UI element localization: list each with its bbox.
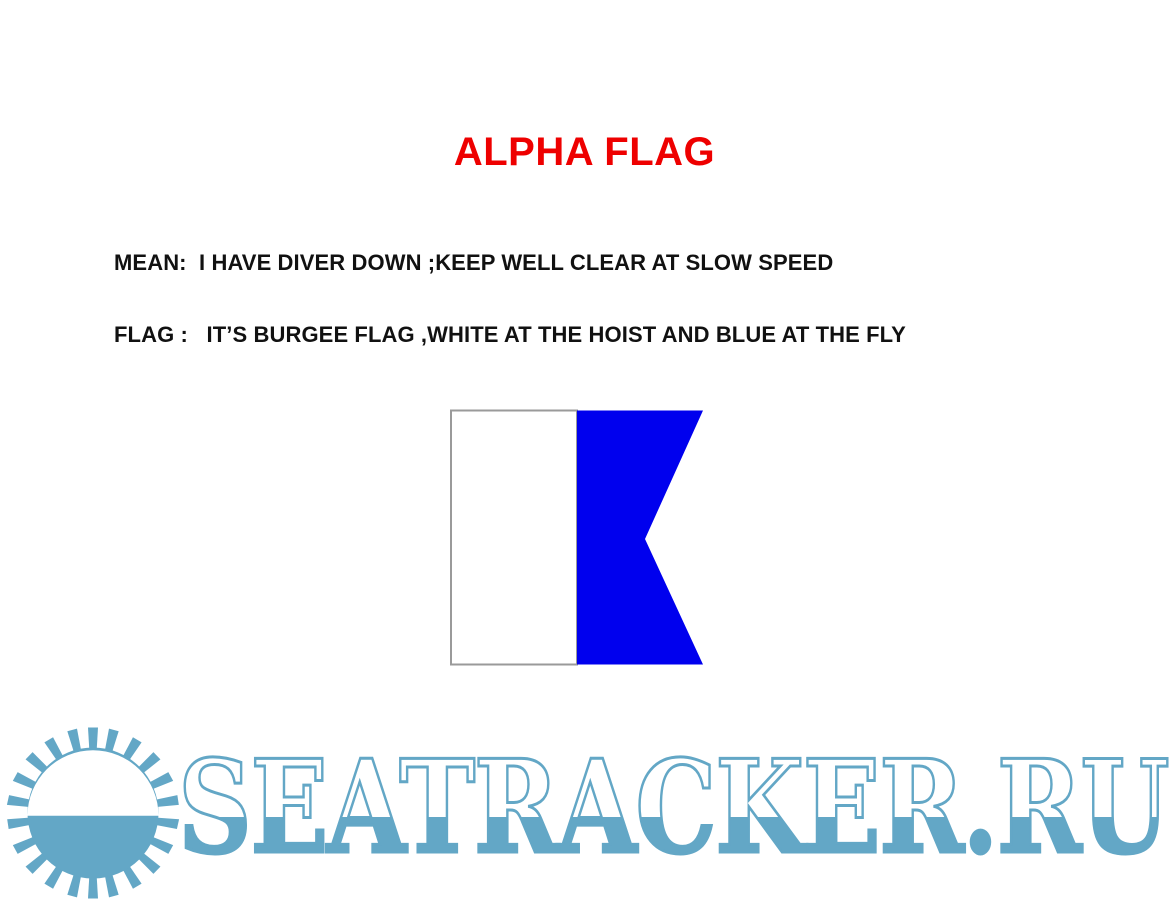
flag-hoist-white-half	[451, 411, 577, 665]
watermark-label: SEATRACKER.RU	[178, 740, 1168, 875]
watermark-text-svg: SEATRACKER.RU	[178, 740, 1169, 875]
flag-description-text: FLAG : IT’S BURGEE FLAG ,WHITE AT THE HO…	[114, 322, 906, 348]
watermark-text: SEATRACKER.RU	[178, 740, 1169, 875]
flag-fly-blue-swallowtail	[577, 411, 703, 665]
slide-canvas: ALPHA FLAG MEAN: I HAVE DIVER DOWN ;KEEP…	[0, 0, 1169, 906]
sun-icon	[2, 722, 184, 904]
page-title: ALPHA FLAG	[0, 130, 1169, 174]
alpha-flag-svg	[450, 409, 704, 666]
sun-dome	[27, 750, 158, 816]
meaning-text: MEAN: I HAVE DIVER DOWN ;KEEP WELL CLEAR…	[114, 250, 833, 276]
watermark: SEATRACKER.RU	[0, 716, 1169, 906]
sun-icon-svg	[2, 722, 184, 904]
alpha-flag-image	[450, 409, 704, 666]
